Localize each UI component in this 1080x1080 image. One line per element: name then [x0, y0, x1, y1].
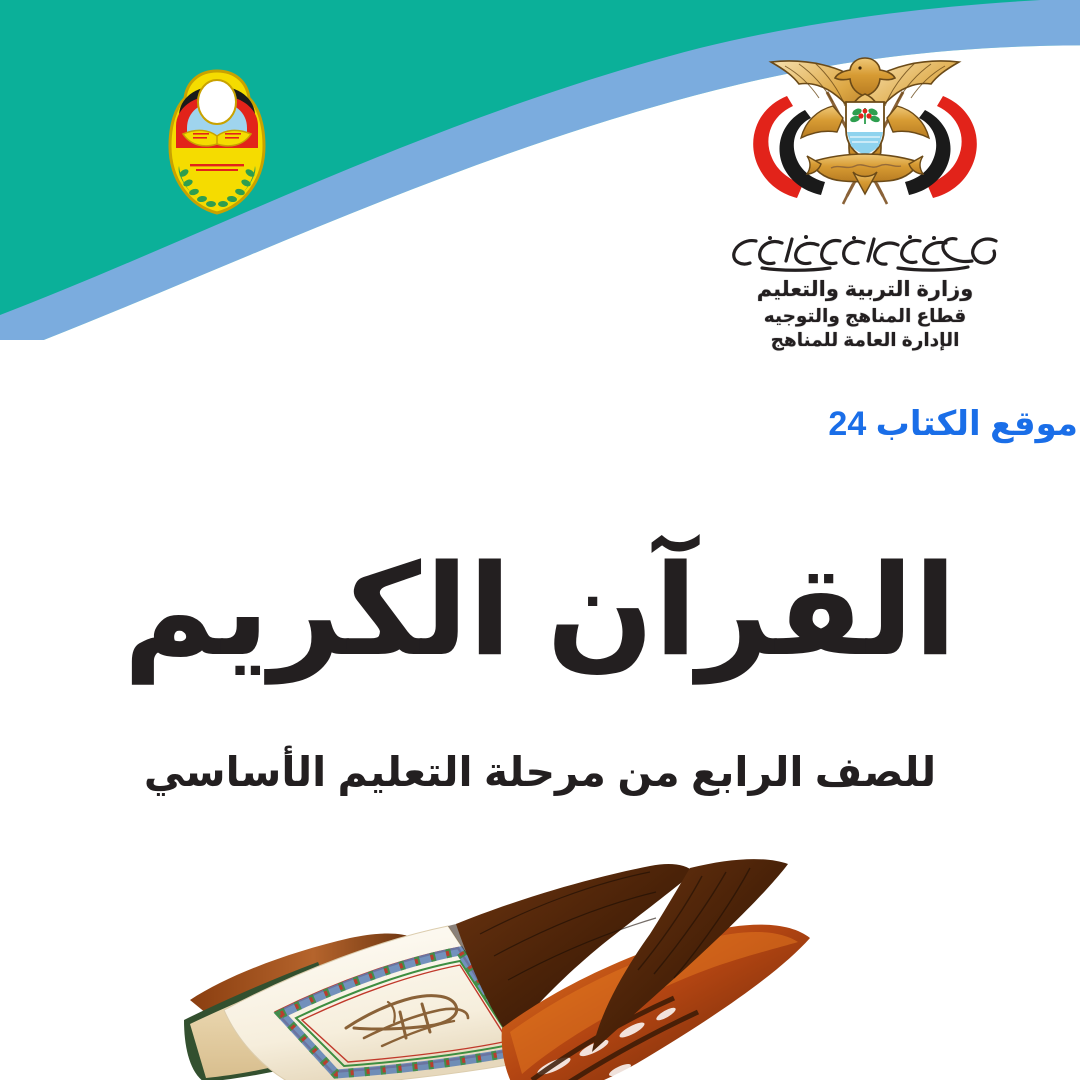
eagle-eye	[858, 66, 861, 69]
school-badge-emblem	[163, 68, 271, 216]
badge-sun	[198, 80, 236, 124]
wing-lobe-right	[887, 106, 929, 138]
ministry-text-lines: وزارة التربية والتعليم قطاع المناهج والت…	[700, 276, 1030, 353]
cover-page: وزارة التربية والتعليم قطاع المناهج والت…	[0, 0, 1080, 1080]
republic-name-calligraphy	[720, 231, 1010, 273]
open-quran-illustration	[150, 852, 870, 1080]
yemen-coat-of-arms	[715, 44, 1015, 229]
ministry-line-2: قطاع المناهج والتوجيه	[700, 304, 1030, 328]
ministry-line-1: وزارة التربية والتعليم	[700, 276, 1030, 304]
calligraphy-strokes	[734, 239, 996, 271]
crescent-red-right	[927, 96, 977, 198]
ministry-emblem-block: وزارة التربية والتعليم قطاع المناهج والت…	[700, 44, 1030, 353]
crescent-red-left	[753, 96, 803, 198]
page-title: القرآن الكريم	[0, 548, 1080, 674]
site-watermark: موقع الكتاب 24	[0, 404, 1080, 444]
page-subtitle: للصف الرابع من مرحلة التعليم الأساسي	[0, 752, 1080, 793]
ministry-line-3: الإدارة العامة للمناهج	[700, 328, 1030, 352]
wing-lobe-left	[801, 106, 843, 138]
